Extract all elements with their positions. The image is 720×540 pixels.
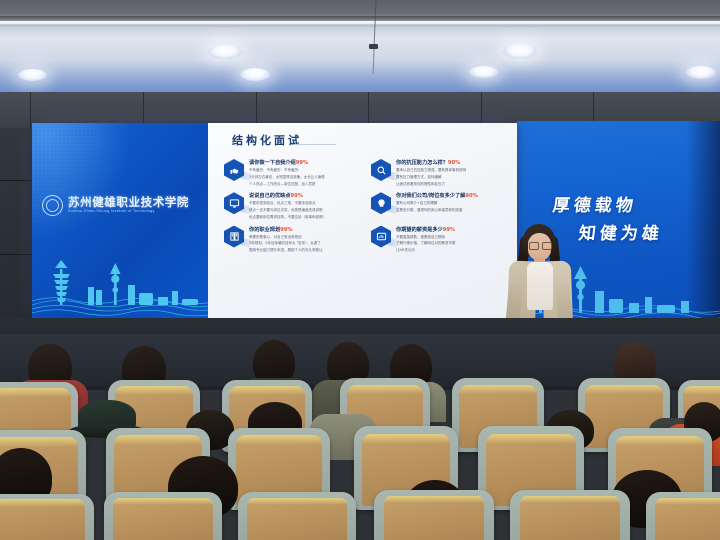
motto-line-1: 厚德载物 (551, 191, 638, 216)
seat (646, 492, 720, 540)
item-line: 要有公司简介+自己的理解 (396, 201, 478, 206)
item-line: 了解行稀价值，了解岗位对的薪资市更 (396, 241, 456, 246)
motto-line-2: 知健为雄 (577, 219, 664, 244)
slide-city-skyline-icon (32, 257, 208, 319)
item-line: 让面试官看到你的理性和反压力 (396, 182, 466, 187)
downlight-icon (686, 66, 716, 79)
item-heading: 说说自己的优缺点99% (249, 193, 326, 200)
presenter-top (527, 262, 553, 310)
slide-title: 结构化面试 (232, 132, 302, 148)
item-heading: 你期望的薪资是多少99% (396, 227, 456, 234)
dot-pattern-icon (32, 123, 102, 243)
slide-item: 你的职业规划99% 考察的是事心，对自己有没有规划 3年规划，5年目标最的目标太… (224, 226, 363, 254)
presentation-screen: 苏州健雄职业技术学院 Suzhou Chien-Shiung Institute… (32, 123, 517, 319)
ceiling (0, 0, 720, 96)
item-line: 让HR先出价 (396, 248, 456, 253)
ceiling-light-cove (0, 21, 720, 24)
slide-content-panel: 结构化面试 请你做一下自我介绍99% 不有雇历：不有雇历：不有雇历： (208, 123, 517, 319)
school-seal-icon (42, 195, 63, 216)
item-line: 不有雇历：不有雇历：不有雇历： (249, 168, 325, 173)
hanging-wire-icon (373, 0, 377, 74)
seat (238, 492, 356, 540)
item-line: 不要说很多缺点，优点三观，不要涉及缺点 (249, 201, 326, 206)
downlight-icon (503, 44, 537, 59)
school-logo: 苏州健雄职业技术学院 Suzhou Chien-Shiung Institute… (42, 195, 202, 216)
slide-brand-panel: 苏州健雄职业技术学院 Suzhou Chien-Shiung Institute… (32, 123, 208, 319)
slide-item: 请你做一下自我介绍99% 不有雇历：不有雇历：不有雇历： 2分钟左右最佳，太短显… (224, 159, 363, 187)
downlight-icon (18, 69, 47, 81)
item-heading: 你的抗压能力怎么样？90% (396, 160, 466, 167)
slide-item: 你的抗压能力怎么样？90% 要承认自己抗压能力很强，要有具体事例说明 要有压力管… (371, 159, 510, 187)
item-heading: 请你做一下自我介绍99% (249, 160, 325, 167)
slide-item: 你对我们公司/岗位有多少了解90% 要有公司简介+自己的理解 这是迟分数，展现你… (371, 192, 510, 220)
item-line: 考察的是事心，对自己有没有规划 (249, 235, 323, 240)
item-line: 3年规划，5年目标最的目标太 "宏伟"，太虚了 (249, 241, 323, 246)
item-heading: 你对我们公司/岗位有多少了解90% (396, 193, 478, 200)
item-line: 2分钟左右最佳，太短显得没准备，太长让人疲倦 (249, 175, 325, 180)
item-line: 这是迟分数，展现你的用心和诚意和的态度 (396, 208, 478, 213)
slide-item-grid: 请你做一下自我介绍99% 不有雇历：不有雇历：不有雇历： 2分钟左右最佳，太短显… (224, 159, 510, 254)
ceiling-seam (0, 25, 720, 27)
lecture-hall-photo: 厚德载物 知健为雄 (0, 0, 720, 540)
seat (0, 494, 94, 540)
seat (374, 490, 494, 540)
glasses-icon (529, 242, 550, 248)
title-underline (294, 144, 336, 145)
item-line: 个人亮点—工作亮点—岗位匹配，加入意愿 (249, 182, 325, 187)
slide-item: 你期望的薪资是多少99% 不要直接报数，做基准自己期待 了解行稀价值，了解岗位对… (371, 226, 510, 254)
slide-item: 说说自己的优缺点99% 不要说很多缺点，优点三观，不要涉及缺点 缺点一定不要与岗… (224, 192, 363, 220)
school-name-en: Suzhou Chien-Shiung Institute of Technol… (68, 210, 189, 214)
school-name-cn: 苏州健雄职业技术学院 (68, 197, 189, 209)
downlight-icon (240, 68, 270, 81)
item-line: 缺点一定不要与岗位冲突，优势是编造还或说明 (249, 208, 326, 213)
downlight-icon (469, 66, 498, 78)
item-line: 不要直接报数，做基准自己期待 (396, 235, 456, 240)
item-heading: 你的职业规划99% (249, 227, 323, 234)
audience (0, 352, 720, 540)
seat (104, 492, 222, 540)
seat (510, 490, 630, 540)
item-line: 要承认自己抗压能力很强，要有具体事例说明 (396, 168, 466, 173)
downlight-icon (208, 45, 242, 59)
item-line: 优点要和岗位需求挂钩，不要空谈（用事例说明） (249, 215, 326, 220)
item-line: 围绕专业能力提升本进，展现个人的长久有默认 (249, 248, 323, 253)
wire-clip-icon (369, 44, 378, 49)
item-line: 要有压力管理方式，如何缓解 (396, 175, 466, 180)
